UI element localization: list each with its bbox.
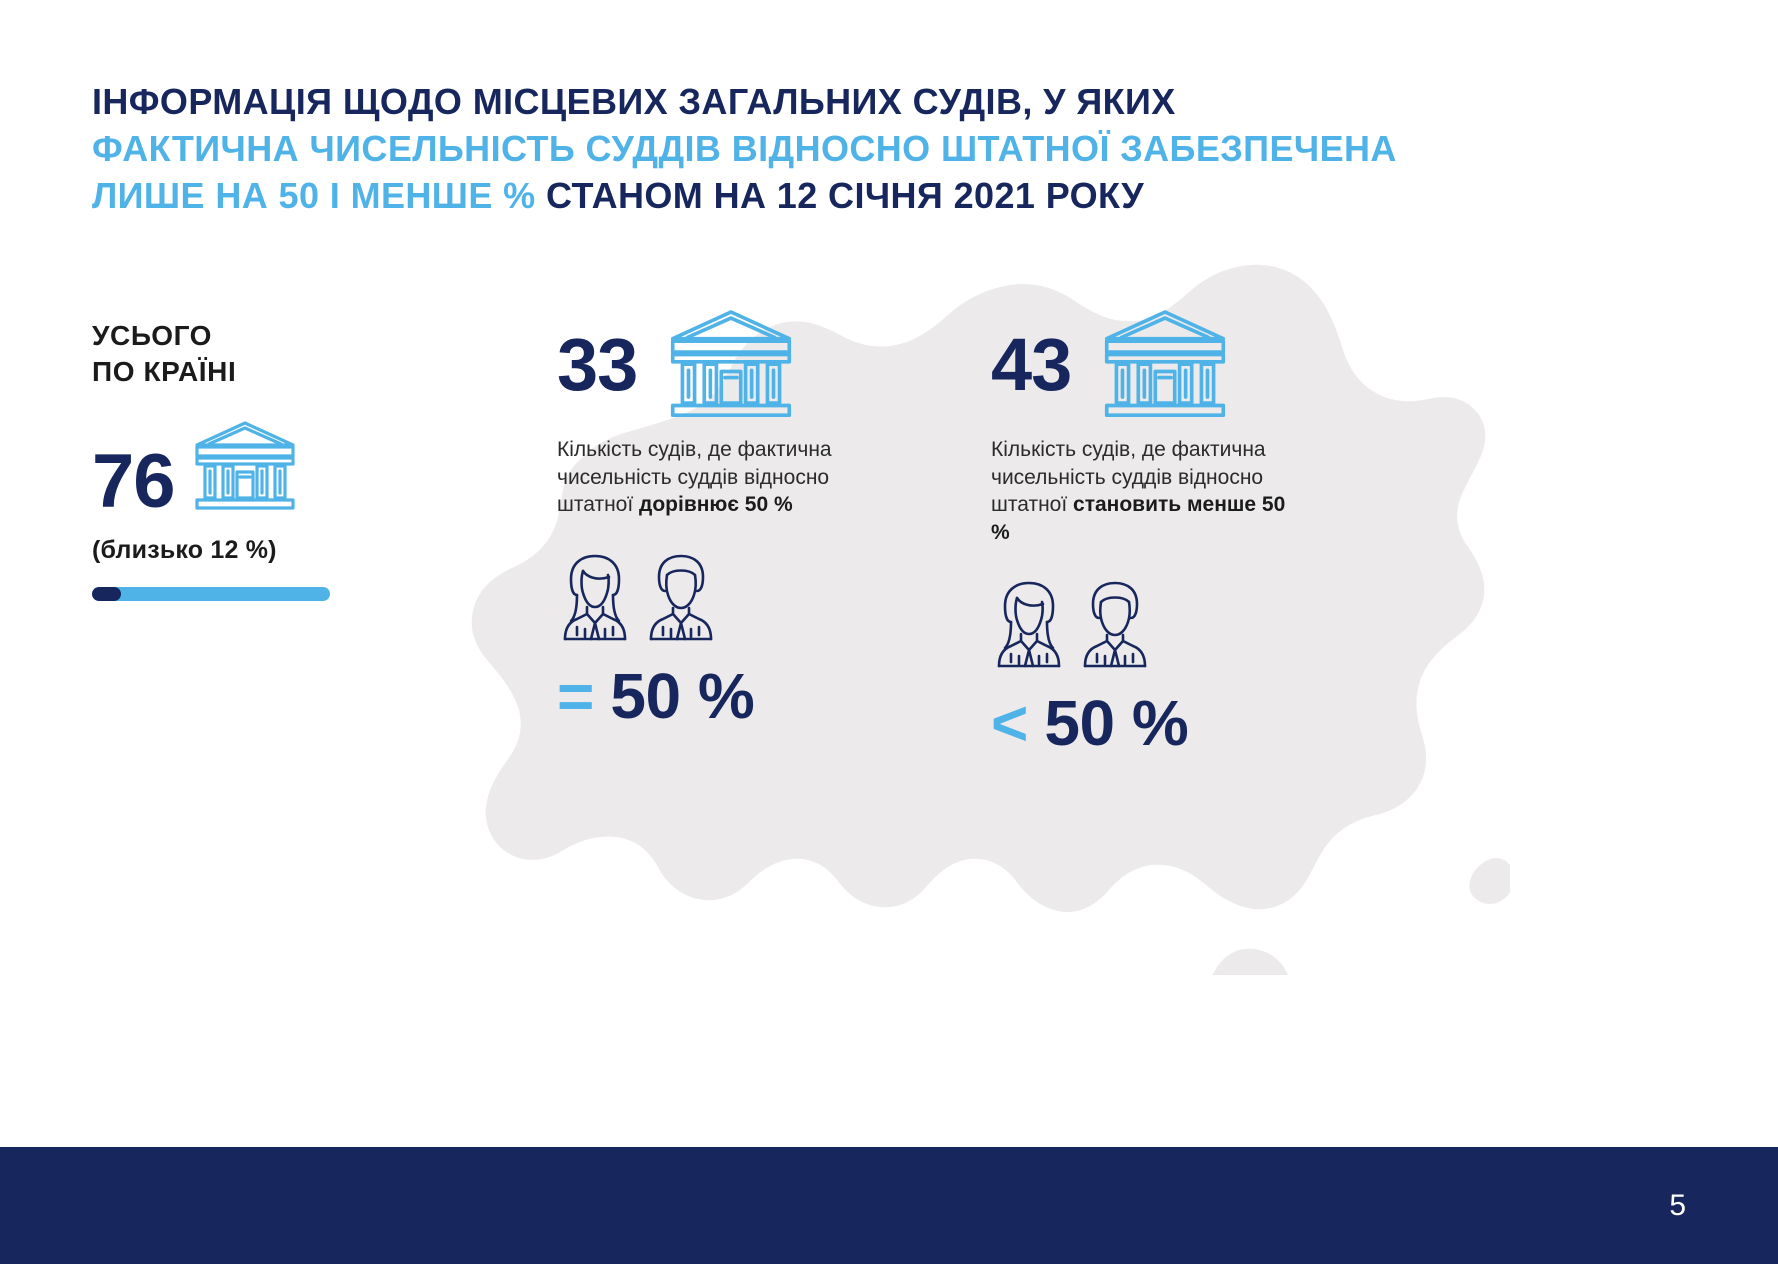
stat-value: 43 (991, 328, 1071, 402)
total-label-line-1: УСЬОГО (92, 318, 422, 354)
man-icon (1077, 578, 1153, 675)
comparison-row: = 50 % (557, 664, 877, 728)
comparison-row: < 50 % (991, 691, 1311, 755)
footer-bar: 5 (0, 1147, 1778, 1264)
bank-icon (663, 304, 799, 427)
stat-block-equal-50: 33 (557, 300, 877, 728)
woman-icon (557, 551, 633, 648)
stat-header: 43 (991, 300, 1311, 430)
title-line-3-highlight: ЛИШЕ НА 50 І МЕНШЕ % (92, 175, 536, 216)
stat-description: Кількість судів, де фактична чисельність… (991, 436, 1291, 546)
page-title: ІНФОРМАЦІЯ ЩОДО МІСЦЕВИХ ЗАГАЛЬНИХ СУДІВ… (92, 78, 1492, 219)
stat-header: 33 (557, 300, 877, 430)
total-label-line-2: ПО КРАЇНІ (92, 354, 422, 390)
people-icons-group (991, 578, 1311, 675)
man-icon (643, 551, 719, 648)
title-line-2: ФАКТИЧНА ЧИСЕЛЬНІСТЬ СУДДІВ ВІДНОСНО ШТА… (92, 125, 1492, 172)
comparison-operator: < (991, 691, 1028, 755)
title-line-3: ЛИШЕ НА 50 І МЕНШЕ % СТАНОМ НА 12 СІЧНЯ … (92, 172, 1492, 219)
stat-value: 33 (557, 328, 637, 402)
total-share-label: (близько 12 %) (92, 536, 422, 565)
woman-icon (991, 578, 1067, 675)
stat-description-emphasis: дорівнює 50 % (639, 493, 793, 516)
title-line-1: ІНФОРМАЦІЯ ЩОДО МІСЦЕВИХ ЗАГАЛЬНИХ СУДІВ… (92, 78, 1492, 125)
total-progress-fill (92, 587, 121, 601)
comparison-value: 50 % (610, 664, 754, 728)
comparison-value: 50 % (1044, 691, 1188, 755)
total-country-panel: УСЬОГО ПО КРАЇНІ 76 (92, 318, 422, 601)
comparison-operator: = (557, 664, 594, 728)
slide-root: ІНФОРМАЦІЯ ЩОДО МІСЦЕВИХ ЗАГАЛЬНИХ СУДІВ… (0, 0, 1778, 1264)
total-value: 76 (92, 444, 175, 520)
bank-icon (1097, 304, 1233, 427)
total-progress-bar (92, 587, 330, 601)
people-icons-group (557, 551, 877, 648)
stat-description: Кількість судів, де фактична чисельність… (557, 436, 857, 519)
stat-block-less-than-50: 43 (991, 300, 1311, 755)
title-line-3-rest (536, 175, 546, 216)
total-value-row: 76 (92, 428, 422, 520)
title-line-3-date: СТАНОМ НА 12 СІЧНЯ 2021 РОКУ (546, 175, 1144, 216)
page-number: 5 (1669, 1189, 1686, 1223)
bank-icon (189, 417, 301, 518)
